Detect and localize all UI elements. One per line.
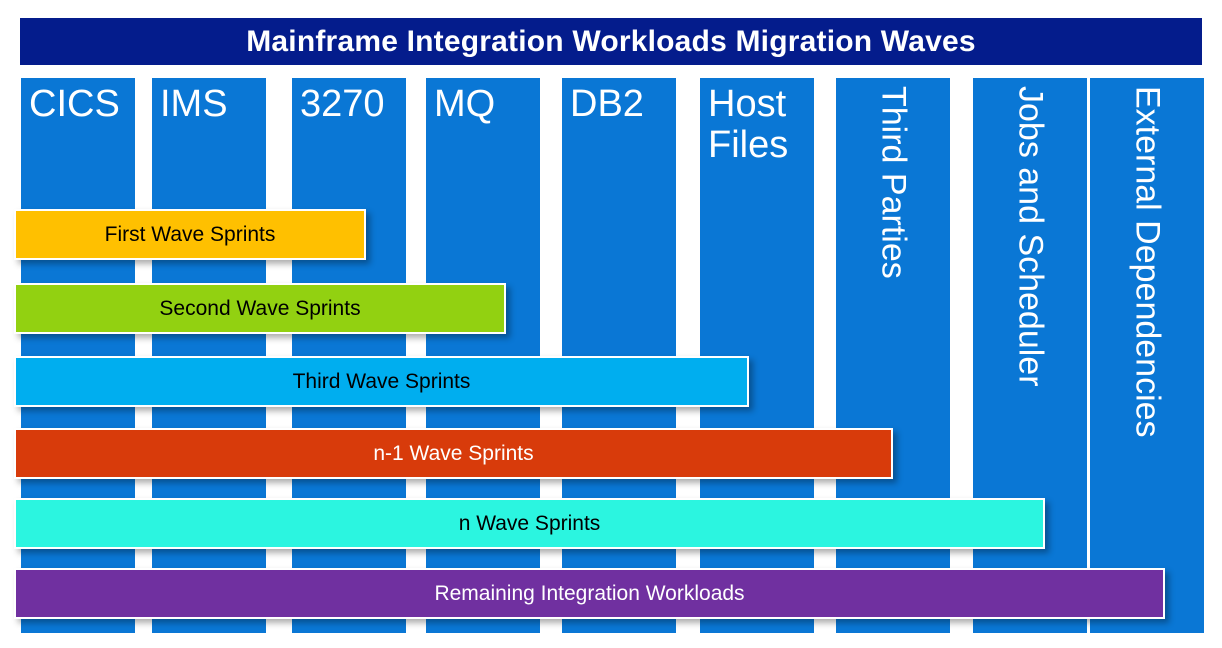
workload-column-label: IMS (152, 84, 266, 125)
migration-wave-bar[interactable]: n-1 Wave Sprints (14, 428, 893, 479)
workload-column-label: Host Files (700, 84, 814, 166)
migration-wave-label: n Wave Sprints (459, 513, 601, 534)
workload-column-label: MQ (426, 84, 540, 125)
migration-wave-label: Remaining Integration Workloads (434, 583, 744, 604)
migration-wave-bar[interactable]: Remaining Integration Workloads (14, 568, 1165, 619)
workload-column-label: DB2 (562, 84, 676, 125)
migration-wave-bar[interactable]: First Wave Sprints (14, 209, 366, 260)
migration-wave-label: First Wave Sprints (105, 224, 276, 245)
migration-wave-bar[interactable]: n Wave Sprints (14, 498, 1045, 549)
migration-wave-label: Third Wave Sprints (293, 371, 471, 392)
diagram-title-banner: Mainframe Integration Workloads Migratio… (20, 18, 1202, 65)
migration-wave-bar[interactable]: Second Wave Sprints (14, 283, 506, 334)
workload-column-label: 3270 (292, 84, 406, 125)
page-title: Mainframe Integration Workloads Migratio… (246, 27, 976, 57)
workload-column-label: CICS (21, 84, 135, 125)
migration-wave-label: n-1 Wave Sprints (373, 443, 533, 464)
workload-column[interactable]: External Dependencies (1090, 78, 1204, 633)
migration-wave-bar[interactable]: Third Wave Sprints (14, 356, 749, 407)
workload-column-label: Third Parties (875, 86, 912, 279)
workload-column-label: External Dependencies (1129, 86, 1166, 438)
workload-column[interactable]: Third Parties (836, 78, 950, 633)
migration-wave-label: Second Wave Sprints (159, 298, 360, 319)
workload-column[interactable]: Jobs and Scheduler (973, 78, 1087, 633)
workload-column-label: Jobs and Scheduler (1012, 86, 1049, 387)
diagram-canvas: Mainframe Integration Workloads Migratio… (0, 0, 1222, 648)
